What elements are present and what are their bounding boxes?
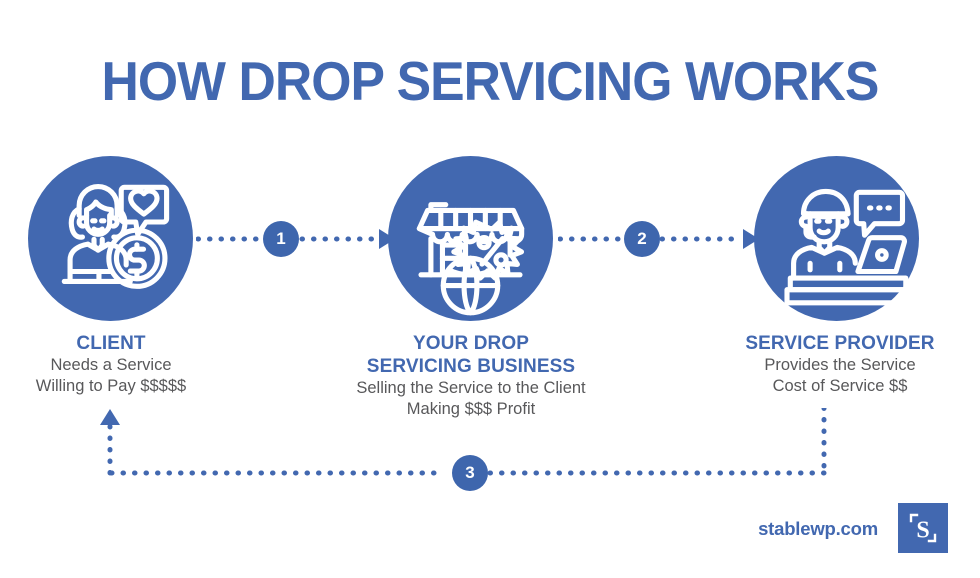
stablewp-logo-icon[interactable]: S	[898, 503, 948, 553]
infographic-canvas: HOW DROP SERVICING WORKS 1 2 3	[0, 0, 980, 578]
caption-provider-line-2: Cost of Service $$	[712, 376, 968, 397]
caption-business: YOUR DROP SERVICING BUSINESS Selling the…	[318, 332, 624, 420]
caption-client-line-2: Willing to Pay $$$$$	[0, 376, 222, 397]
support-agent-laptop-icon	[754, 156, 919, 321]
caption-business-title-line-1: YOUR DROP	[318, 332, 624, 355]
node-circle-provider[interactable]	[754, 156, 919, 321]
step-badge-2: 2	[624, 221, 660, 257]
caption-client-title: CLIENT	[0, 332, 222, 355]
footer-wordmark[interactable]: stablewp.com	[758, 518, 878, 540]
caption-client-line-1: Needs a Service	[0, 355, 222, 376]
step-badge-1: 1	[263, 221, 299, 257]
storefront-discount-globe-icon	[388, 156, 553, 321]
caption-business-line-1: Selling the Service to the Client	[318, 378, 624, 399]
caption-provider-title: SERVICE PROVIDER	[712, 332, 968, 355]
step-badge-3: 3	[452, 455, 488, 491]
caption-provider-line-1: Provides the Service	[712, 355, 968, 376]
caption-business-line-2: Making $$$ Profit	[318, 399, 624, 420]
caption-business-title-line-2: SERVICING BUSINESS	[318, 355, 624, 378]
logo-letter: S	[916, 518, 929, 544]
caption-provider: SERVICE PROVIDER Provides the Service Co…	[712, 332, 968, 397]
node-circle-business[interactable]	[388, 156, 553, 321]
customer-heart-money-icon	[28, 156, 193, 321]
node-circle-client[interactable]	[28, 156, 193, 321]
page-title: HOW DROP SERVICING WORKS	[29, 52, 950, 110]
caption-client: CLIENT Needs a Service Willing to Pay $$…	[0, 332, 222, 397]
